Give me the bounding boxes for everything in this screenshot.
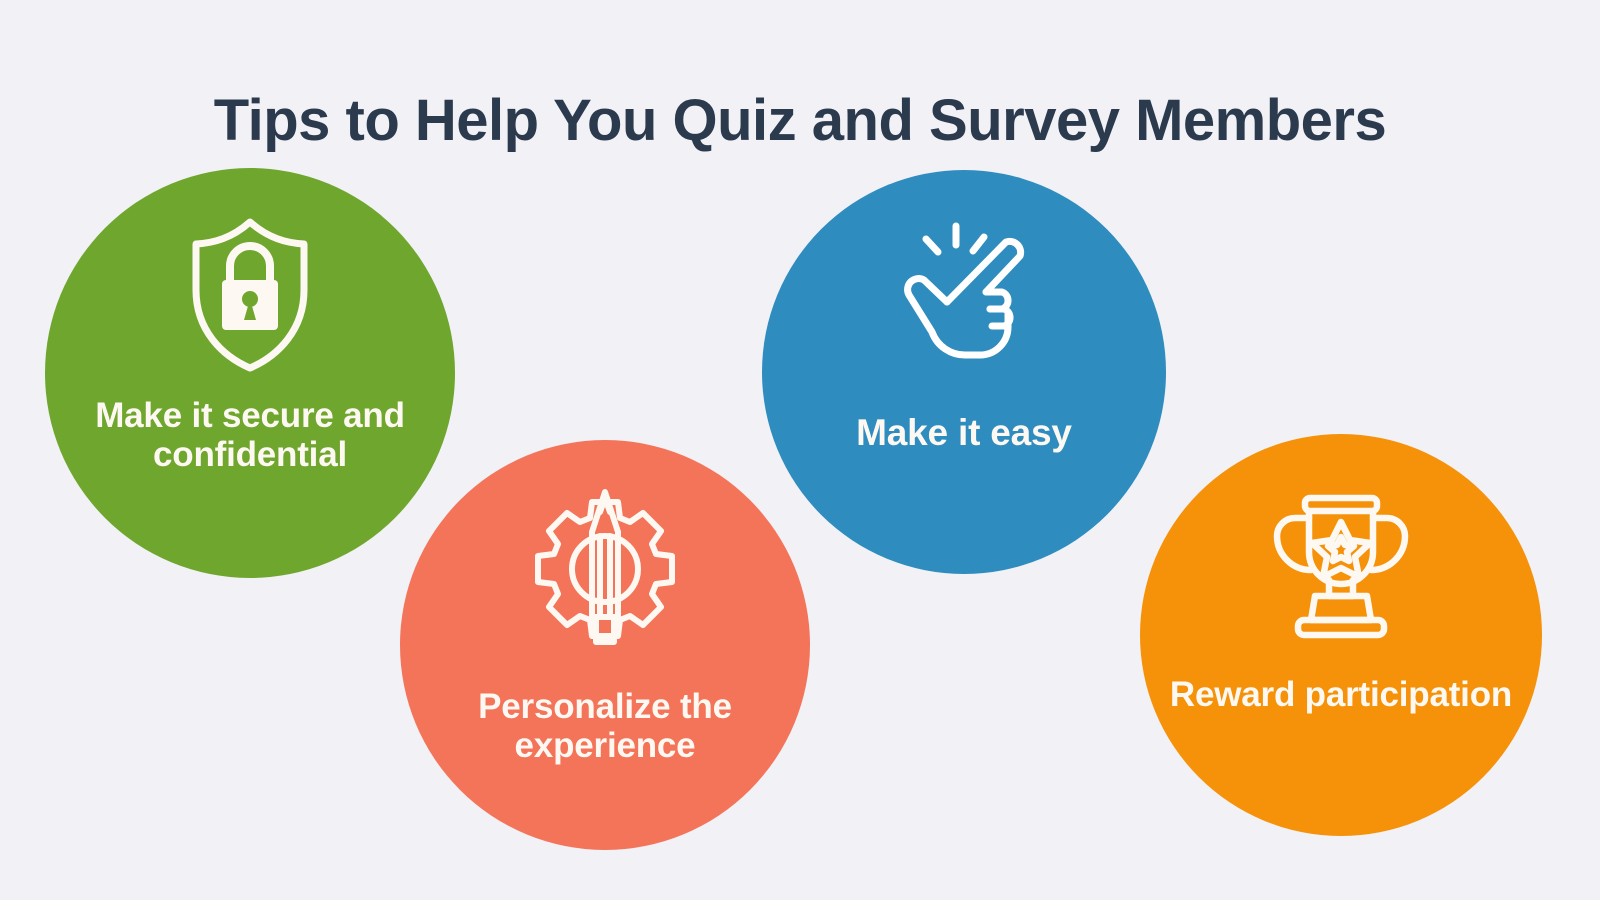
gear-pencil-icon [530, 484, 680, 659]
shield-lock-icon [186, 216, 314, 374]
tip-label-personalize: Personalize the experience [416, 687, 793, 765]
page-title: Tips to Help You Quiz and Survey Members [0, 89, 1600, 153]
trophy-star-icon [1267, 492, 1415, 647]
tap-hand-icon [894, 214, 1034, 364]
tip-circle-easy[interactable]: Make it easy [762, 170, 1166, 574]
infographic-canvas: Tips to Help You Quiz and Survey Members… [0, 0, 1600, 900]
tip-circle-reward[interactable]: Reward participation [1140, 434, 1542, 836]
tip-circle-personalize[interactable]: Personalize the experience [400, 440, 810, 850]
tip-label-easy: Make it easy [778, 412, 1150, 453]
tip-label-reward: Reward participation [1156, 675, 1526, 714]
tip-circle-secure[interactable]: Make it secure and confidential [45, 168, 455, 578]
tip-label-secure: Make it secure and confidential [61, 396, 438, 474]
